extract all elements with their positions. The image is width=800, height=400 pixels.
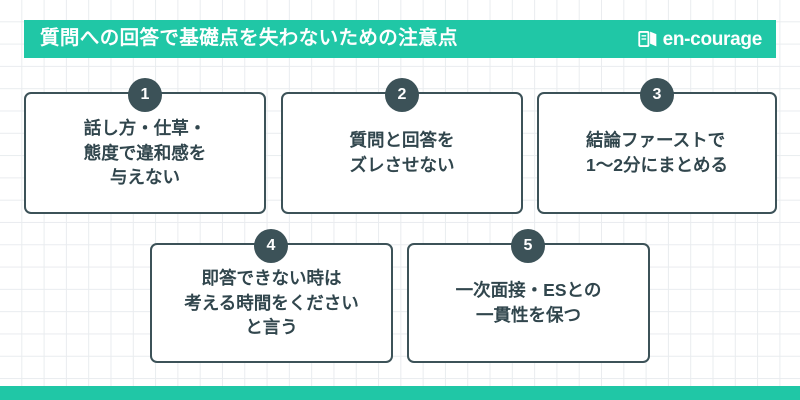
tip-card-4-text: 即答できない時は 考える時間をください と言う — [176, 266, 366, 341]
brand-logo: en-courage — [638, 29, 762, 49]
tip-card-1-text: 話し方・仕草・ 態度で違和感を 与えない — [76, 116, 215, 191]
tip-card-3-text: 結論ファーストで 1〜2分にまとめる — [578, 128, 736, 178]
book-flag-icon — [638, 29, 658, 49]
card-number-badge: 1 — [128, 78, 162, 112]
footer-accent-bar — [0, 386, 800, 400]
card-number-badge: 2 — [385, 78, 419, 112]
tip-card-5-text: 一次面接・ESとの 一貫性を保つ — [448, 278, 610, 328]
card-number-badge: 5 — [511, 229, 545, 263]
card-number-badge: 4 — [254, 229, 288, 263]
slide-canvas: 質問への回答で基礎点を失わないための注意点 en-courage 1 話し方・仕… — [0, 0, 800, 400]
card-number-badge: 3 — [640, 78, 674, 112]
brand-name: en-courage — [663, 30, 762, 49]
page-title: 質問への回答で基礎点を失わないための注意点 — [40, 29, 458, 49]
header-bar: 質問への回答で基礎点を失わないための注意点 en-courage — [24, 20, 776, 58]
tip-card-2-text: 質問と回答を ズレさせない — [342, 128, 463, 178]
